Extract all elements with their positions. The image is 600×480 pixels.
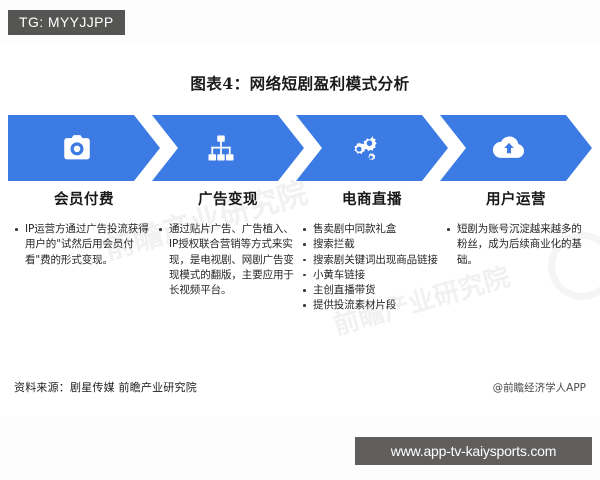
list-item: 小黄车链接 — [302, 268, 442, 283]
telegram-watermark-tag: TG: MYYJJPP — [8, 10, 125, 35]
gears-icon — [345, 128, 385, 168]
bullet-list: 短剧为账号沉淀越来越多的粉丝，成为后续商业化的基础。 — [446, 222, 586, 268]
chevron-step-2 — [152, 115, 304, 181]
step-heading-4: 用户运营 — [440, 188, 592, 209]
step-column-4: 短剧为账号沉淀越来越多的粉丝，成为后续商业化的基础。 — [446, 222, 586, 268]
step-heading-3: 电商直播 — [296, 188, 448, 209]
chevron-step-1 — [8, 115, 160, 181]
chevron-band — [8, 115, 592, 181]
list-item: IP运营方通过广告投流获得用户的"试然后用会员付看"费的形式变现。 — [14, 222, 154, 268]
list-item: 通过贴片广告、广告植入、IP授权联合营销等方式来实现，是电视剧、网剧广告变现模式… — [158, 222, 298, 298]
chevron-step-3 — [296, 115, 448, 181]
list-item: 短剧为账号沉淀越来越多的粉丝，成为后续商业化的基础。 — [446, 222, 586, 268]
source-note: 资料来源：剧星传媒 前瞻产业研究院 — [14, 379, 197, 395]
list-item: 售卖剧中同款礼盒 — [302, 222, 442, 237]
url-watermark-bar: www.app-tv-kaiysports.com — [355, 437, 592, 465]
chevron-step-4 — [440, 115, 592, 181]
infographic-card: 前瞻产业研究院 前瞻产业研究院 图表4：网络短剧盈利模式分析 — [0, 46, 600, 416]
credit-note: @前瞻经济学人APP — [493, 380, 586, 395]
step-column-1: IP运营方通过广告投流获得用户的"试然后用会员付看"费的形式变现。 — [14, 222, 154, 268]
list-item: 搜索拦截 — [302, 237, 442, 252]
list-item: 提供投流素材片段 — [302, 298, 442, 313]
list-item: 主创直播带货 — [302, 283, 442, 298]
bullet-list: 通过贴片广告、广告植入、IP授权联合营销等方式来实现，是电视剧、网剧广告变现模式… — [158, 222, 298, 298]
screenshot-root: TG: MYYJJPP 前瞻产业研究院 前瞻产业研究院 图表4：网络短剧盈利模式… — [0, 0, 600, 480]
step-heading-2: 广告变现 — [152, 188, 304, 209]
url-text: www.app-tv-kaiysports.com — [391, 443, 556, 459]
cloud-upload-icon — [489, 128, 529, 168]
list-item: 搜索剧关键词出现商品链接 — [302, 253, 442, 268]
camera-icon — [57, 128, 97, 168]
bullet-list: IP运营方通过广告投流获得用户的"试然后用会员付看"费的形式变现。 — [14, 222, 154, 268]
bullet-list: 售卖剧中同款礼盒 搜索拦截 搜索剧关键词出现商品链接 小黄车链接 主创直播带货 … — [302, 222, 442, 314]
step-column-2: 通过贴片广告、广告植入、IP授权联合营销等方式来实现，是电视剧、网剧广告变现模式… — [158, 222, 298, 298]
telegram-watermark-label: TG: MYYJJPP — [19, 14, 114, 30]
step-headings: 会员付费 广告变现 电商直播 用户运营 — [8, 188, 592, 216]
step-column-3: 售卖剧中同款礼盒 搜索拦截 搜索剧关键词出现商品链接 小黄车链接 主创直播带货 … — [302, 222, 442, 314]
step-heading-1: 会员付费 — [8, 188, 160, 209]
chart-title: 图表4：网络短剧盈利模式分析 — [0, 72, 600, 94]
step-detail-columns: IP运营方通过广告投流获得用户的"试然后用会员付看"费的形式变现。 通过贴片广告… — [8, 222, 592, 362]
sitemap-icon — [201, 128, 241, 168]
